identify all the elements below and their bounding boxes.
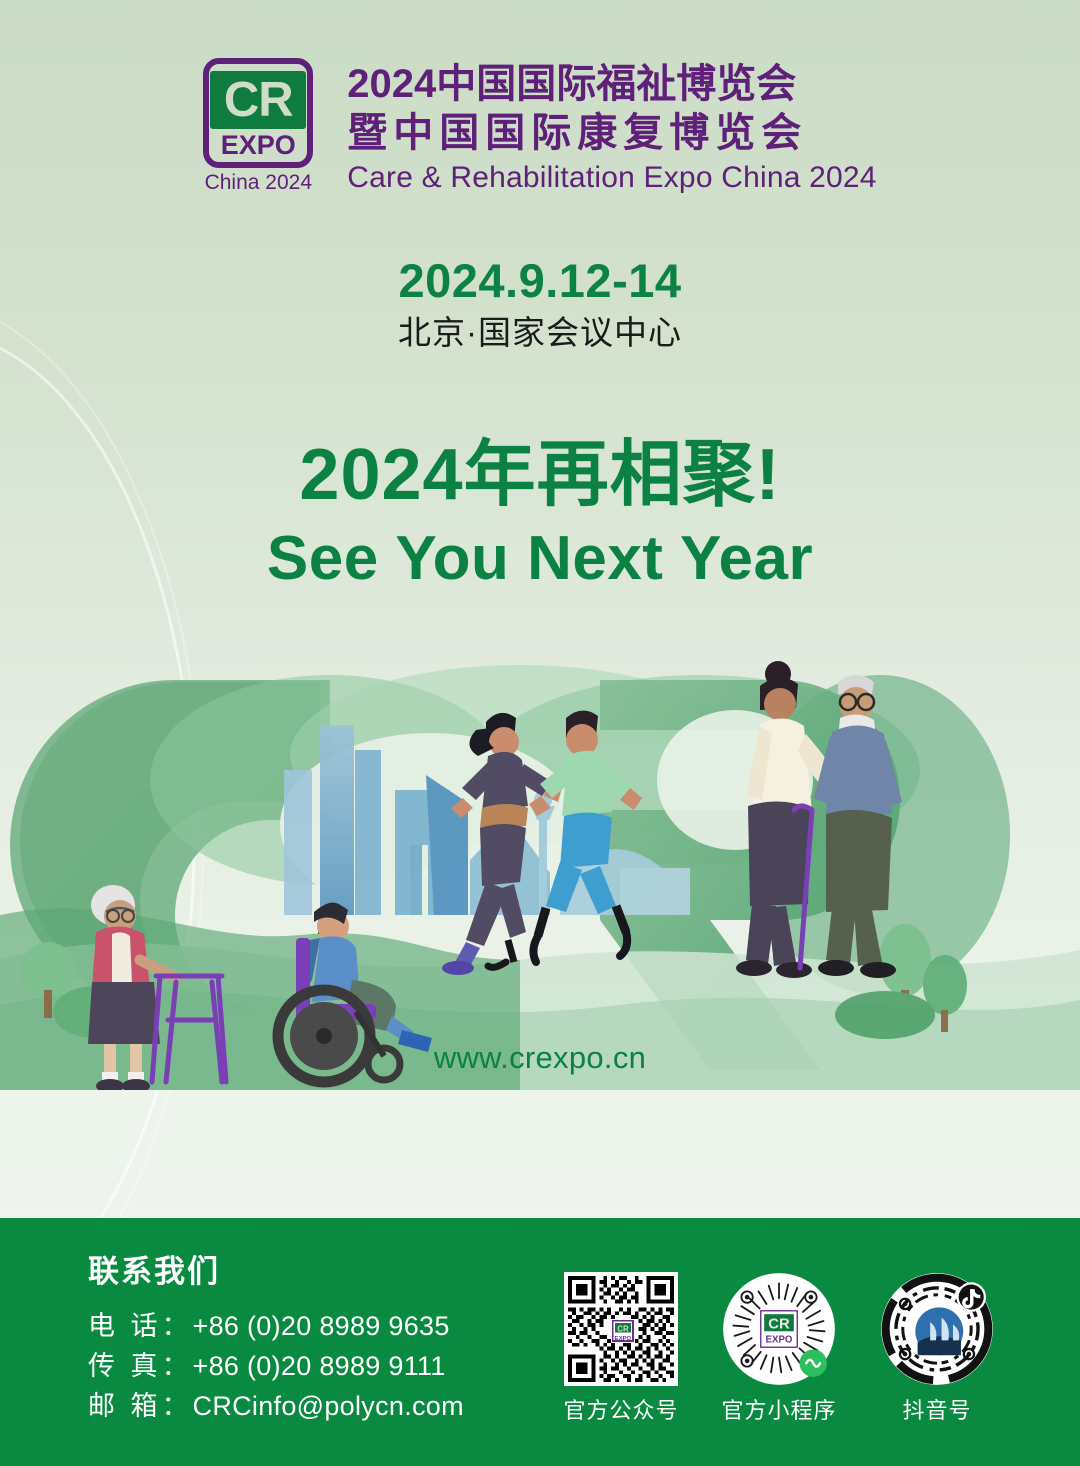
contact-fax-value: +86 (0)20 8989 9111 — [193, 1351, 446, 1381]
qr-miniprogram[interactable]: CR EXPO 官方小程序 — [718, 1270, 840, 1428]
illustration — [0, 660, 1080, 1090]
website-url[interactable]: www.crexpo.cn — [0, 1040, 1080, 1076]
contact-phone-label: 电 话： — [88, 1311, 193, 1341]
qr-official-account-label: 官方公众号 — [560, 1394, 682, 1428]
svg-text:CR: CR — [768, 1316, 790, 1332]
poster: CR EXPO China 2024 2024中国国际福祉博览会 暨中国国际康复… — [0, 0, 1080, 1466]
logo-badge: CR EXPO — [203, 58, 313, 168]
wechat-official-account-qr-icon[interactable]: CR EXPO — [560, 1270, 682, 1388]
logo-cr-text: CR — [210, 71, 306, 129]
logo-subtitle: China 2024 — [199, 168, 317, 198]
headline-block: 2024年再相聚! See You Next Year — [0, 430, 1080, 598]
event-date-block: 2024.9.12-14 北京·国家会议中心 — [0, 252, 1080, 356]
header: CR EXPO China 2024 2024中国国际福祉博览会 暨中国国际康复… — [0, 58, 1080, 198]
qr-code-group: CR EXPO 官方公众号 — [560, 1270, 998, 1428]
contact-email-label: 邮 箱： — [88, 1391, 193, 1421]
contact-block: 联系我们 电 话：+86 (0)20 8989 9635 传 真：+86 (0)… — [88, 1250, 464, 1426]
contact-title: 联系我们 — [88, 1250, 464, 1294]
contact-phone-value: +86 (0)20 8989 9635 — [193, 1311, 450, 1341]
event-venue: 北京·国家会议中心 — [0, 310, 1080, 356]
event-date: 2024.9.12-14 — [0, 252, 1080, 310]
qr-douyin[interactable]: 抖音号 — [876, 1270, 998, 1428]
contact-phone: 电 话：+86 (0)20 8989 9635 — [88, 1306, 464, 1346]
footer: 联系我们 电 话：+86 (0)20 8989 9635 传 真：+86 (0)… — [0, 1218, 1080, 1466]
qr-douyin-label: 抖音号 — [876, 1394, 998, 1428]
qr-miniprogram-label: 官方小程序 — [718, 1394, 840, 1428]
svg-text:EXPO: EXPO — [766, 1335, 793, 1346]
headline-chinese: 2024年再相聚! — [0, 430, 1080, 520]
douyin-qr-icon[interactable] — [876, 1270, 998, 1388]
wechat-miniprogram-qr-icon[interactable]: CR EXPO — [718, 1270, 840, 1388]
logo-expo-text: EXPO — [210, 129, 306, 162]
contact-email: 邮 箱：CRCinfo@polycn.com — [88, 1386, 464, 1426]
headline-english: See You Next Year — [0, 520, 1080, 598]
svg-text:EXPO: EXPO — [615, 1336, 632, 1342]
contact-email-value: CRCinfo@polycn.com — [193, 1391, 464, 1421]
contact-fax-label: 传 真： — [88, 1351, 193, 1381]
illustration-letters — [0, 661, 1080, 1090]
header-titles: 2024中国国际福祉博览会 暨中国国际康复博览会 Care & Rehabili… — [347, 58, 876, 198]
svg-text:CR: CR — [617, 1324, 629, 1333]
title-chinese-line2: 暨中国国际康复博览会 — [347, 109, 876, 158]
title-chinese-line1: 2024中国国际福祉博览会 — [347, 60, 876, 109]
qr-official-account[interactable]: CR EXPO 官方公众号 — [560, 1270, 682, 1428]
cr-expo-logo: CR EXPO China 2024 — [203, 58, 321, 198]
contact-fax: 传 真：+86 (0)20 8989 9111 — [88, 1346, 464, 1386]
title-english: Care & Rehabilitation Expo China 2024 — [347, 158, 876, 198]
